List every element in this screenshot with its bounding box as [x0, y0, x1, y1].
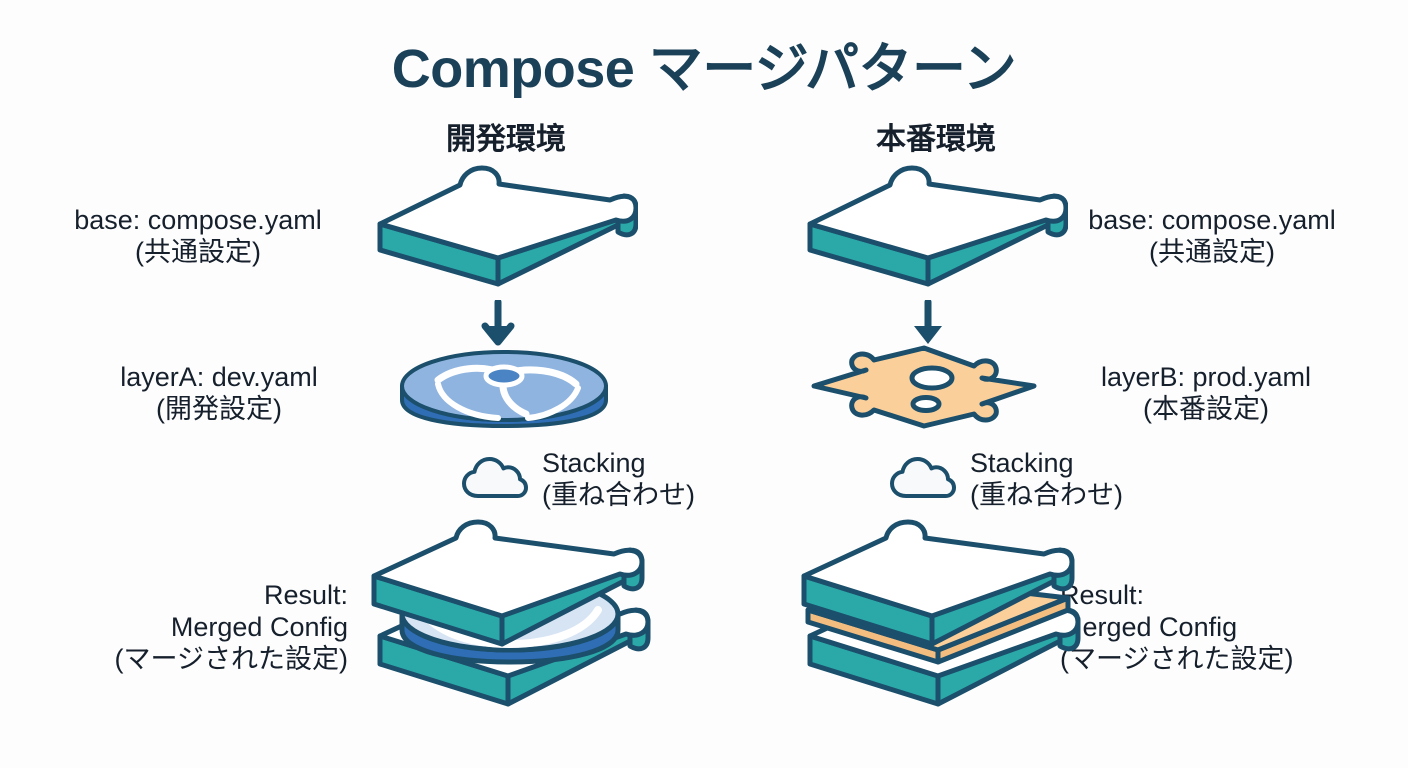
- stacking-text-left: Stacking (重ね合わせ): [542, 448, 695, 512]
- cloud-icon: [462, 454, 528, 505]
- label-result-left-line3: (マージされた設定): [36, 644, 348, 676]
- column-header-prod: 本番環境: [786, 114, 1086, 158]
- label-base-left-line2: (共通設定): [48, 237, 348, 269]
- stacking-text-right: Stacking (重ね合わせ): [970, 448, 1123, 512]
- cloud-icon: [890, 454, 956, 505]
- label-result-right-line2: Merged Config: [1060, 612, 1372, 644]
- label-layer-b: layerB: prod.yaml (本番設定): [1066, 362, 1346, 426]
- diagram-canvas: Compose マージパターン 開発環境 本番環境 base: compose.…: [0, 0, 1408, 768]
- stacking-left-line2: (重ね合わせ): [542, 480, 695, 512]
- stacking-left-line1: Stacking: [542, 448, 695, 480]
- label-result-left-line1: Result:: [36, 580, 348, 612]
- bread-slice-base-left: [366, 162, 638, 293]
- stacking-annotation-left: Stacking (重ね合わせ): [462, 448, 695, 512]
- page-title: Compose マージパターン: [0, 24, 1408, 103]
- label-result-left-line2: Merged Config: [36, 612, 348, 644]
- label-layer-b-line1: layerB: prod.yaml: [1066, 362, 1346, 394]
- stacking-right-line2: (重ね合わせ): [970, 480, 1123, 512]
- sandwich-stack-right: [792, 518, 1088, 729]
- label-base-left-line1: base: compose.yaml: [48, 205, 348, 237]
- label-result-right: Result: Merged Config (マージされた設定): [1060, 580, 1372, 676]
- label-base-right: base: compose.yaml (共通設定): [1062, 205, 1362, 269]
- column-header-dev: 開発環境: [356, 114, 656, 158]
- label-layer-a-line2: (開発設定): [90, 394, 348, 426]
- label-base-right-line1: base: compose.yaml: [1062, 205, 1362, 237]
- sandwich-stack-left: [362, 518, 658, 729]
- label-result-right-line3: (マージされた設定): [1060, 644, 1372, 676]
- label-layer-a: layerA: dev.yaml (開発設定): [90, 362, 348, 426]
- disc-filling-icon: [396, 346, 612, 435]
- bread-slice-base-right: [796, 162, 1068, 293]
- label-layer-b-line2: (本番設定): [1066, 394, 1346, 426]
- label-layer-a-line1: layerA: dev.yaml: [90, 362, 348, 394]
- label-base-left: base: compose.yaml (共通設定): [48, 205, 348, 269]
- label-result-right-line1: Result:: [1060, 580, 1372, 612]
- stacking-right-line1: Stacking: [970, 448, 1123, 480]
- stacking-annotation-right: Stacking (重ね合わせ): [890, 448, 1123, 512]
- label-result-left: Result: Merged Config (マージされた設定): [36, 580, 348, 676]
- cheese-slice-icon: [806, 340, 1042, 437]
- label-base-right-line2: (共通設定): [1062, 237, 1362, 269]
